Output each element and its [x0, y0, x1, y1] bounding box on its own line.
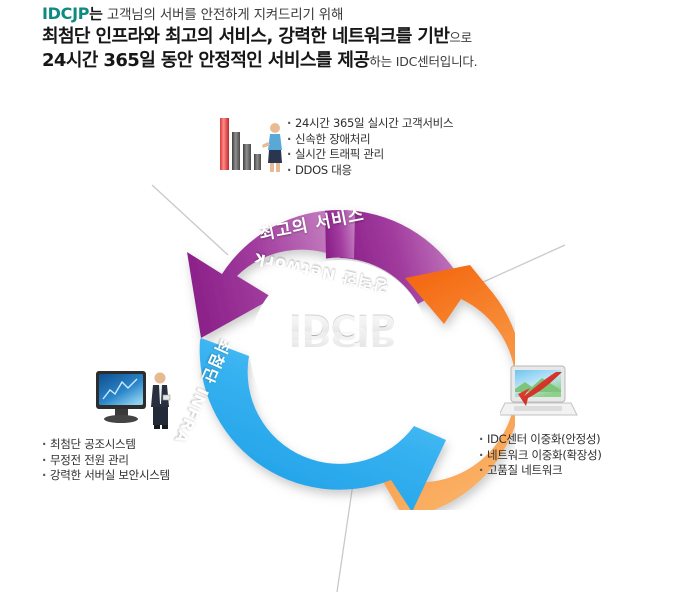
brand-particle: 는 — [89, 5, 103, 23]
header-line-2-tail: 으로 — [449, 30, 472, 45]
list-item: 24시간 365일 실시간 고객서비스 — [287, 116, 453, 132]
header-line-3-main: 24시간 365일 동안 안정적인 서비스를 제공 — [42, 50, 369, 71]
list-item: 신속한 장애처리 — [287, 132, 453, 148]
laptop-arrow-icon — [500, 362, 580, 424]
list-item: DDOS 대응 — [287, 163, 453, 179]
header-line-2: 최첨단 인프라와 최고의 서비스, 강력한 네트워크를 기반으로 — [42, 25, 642, 49]
header-line-1: IDCJP는 고객님의 서버를 안전하게 지켜드리기 위해 — [42, 4, 642, 25]
list-item: 무정전 전원 관리 — [42, 453, 170, 469]
header-line-3-tail: 하는 IDC센터입니다. — [369, 54, 477, 69]
cycle-hub — [250, 260, 430, 440]
callout-right-list: IDC센터 이중화(안정성) 네트워크 이중화(확장성) 고품질 네트워크 — [479, 432, 602, 479]
header-line-3: 24시간 365일 동안 안정적인 서비스를 제공하는 IDC센터입니다. — [42, 49, 642, 73]
cycle-segment-service-join — [325, 210, 355, 259]
callout-left-list: 최첨단 공조시스템 무정전 전원 관리 강력한 서버실 보안시스템 — [42, 437, 170, 484]
list-item: 고품질 네트워크 — [479, 463, 602, 479]
header-line-1-text: 고객님의 서버를 안전하게 지켜드리기 위해 — [103, 7, 343, 23]
list-item: 최첨단 공조시스템 — [42, 437, 170, 453]
cycle-diagram — [165, 190, 515, 510]
page-header: IDCJP는 고객님의 서버를 안전하게 지켜드리기 위해 최첨단 인프라와 최… — [42, 4, 642, 73]
list-item: IDC센터 이중화(안정성) — [479, 432, 602, 448]
callout-top-list: 24시간 365일 실시간 고객서비스 신속한 장애처리 실시간 트래픽 관리 … — [287, 116, 453, 178]
monitor-businessman-icon — [93, 366, 181, 432]
brand-name: IDCJP — [42, 4, 89, 23]
infographic-canvas: IDCJP는 고객님의 서버를 안전하게 지켜드리기 위해 최첨단 인프라와 최… — [0, 0, 680, 600]
list-item: 네트워크 이중화(확장성) — [479, 448, 602, 464]
header-line-2-main: 최첨단 인프라와 최고의 서비스, 강력한 네트워크를 기반 — [42, 26, 449, 47]
bar-chart-presenter-icon — [218, 112, 286, 176]
list-item: 실시간 트래픽 관리 — [287, 147, 453, 163]
list-item: 강력한 서버실 보안시스템 — [42, 468, 170, 484]
